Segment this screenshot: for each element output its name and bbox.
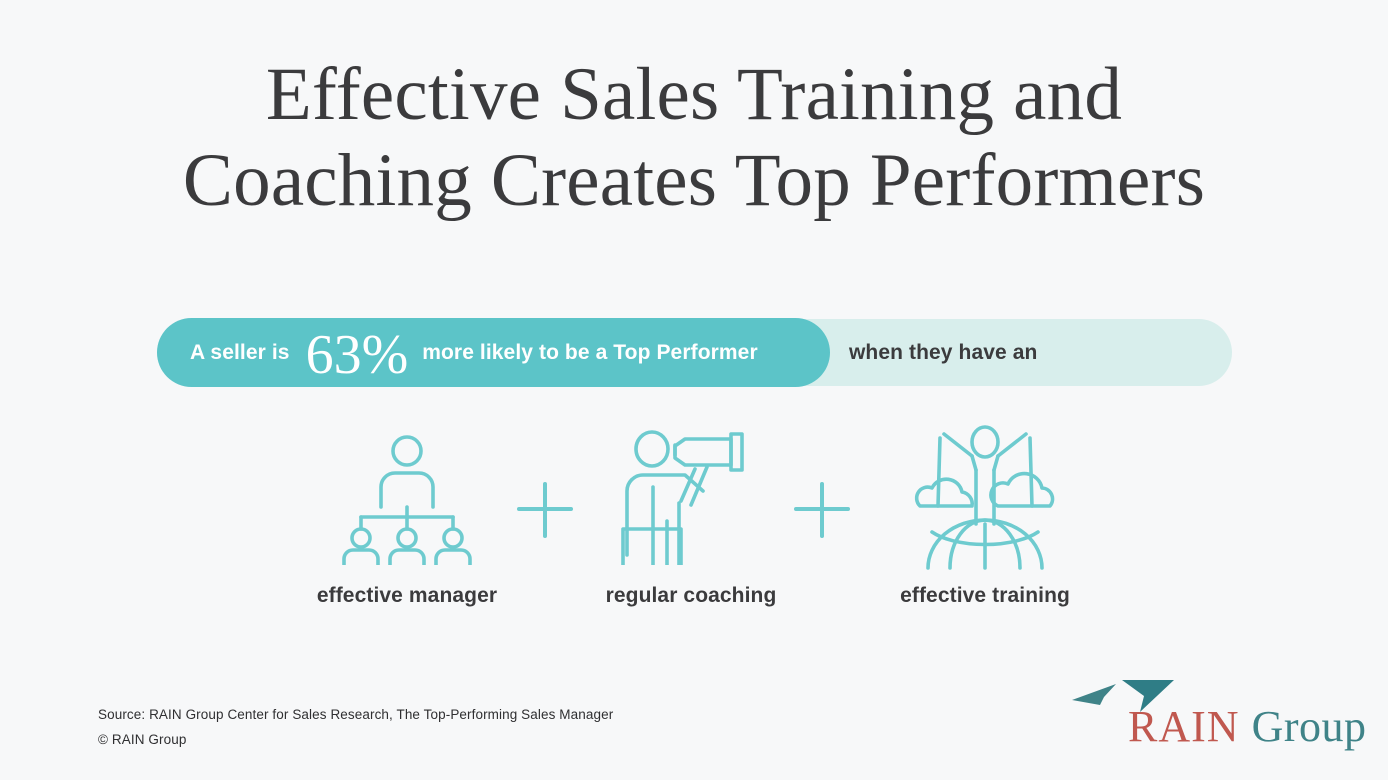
source-text: Source: RAIN Group Center for Sales Rese… <box>98 702 613 727</box>
logo-name-primary: RAIN <box>1128 702 1240 751</box>
page-title: Effective Sales Training and Coaching Cr… <box>0 52 1388 224</box>
logo-name-secondary: Group <box>1252 702 1367 751</box>
factor-regular-coaching: regular coaching <box>591 420 791 608</box>
person-on-globe-icon <box>885 420 1085 570</box>
factor-effective-training: effective training <box>885 420 1085 608</box>
factors-row: effective manager <box>0 420 1388 610</box>
footer: Source: RAIN Group Center for Sales Rese… <box>98 702 613 752</box>
factor-label: effective manager <box>307 584 507 608</box>
plus-icon <box>794 482 850 538</box>
factor-label: regular coaching <box>591 584 791 608</box>
stat-banner-teal-fill: A seller is 63% more likely to be a Top … <box>157 318 830 387</box>
stat-middle-text: more likely to be a Top Performer <box>422 341 758 365</box>
copyright-text: © RAIN Group <box>98 727 613 752</box>
stat-prefix-text: A seller is <box>190 341 290 365</box>
factor-label: effective training <box>885 584 1085 608</box>
stat-value: 63% <box>306 327 409 383</box>
page-title-line-1: Effective Sales Training and <box>0 52 1388 138</box>
stat-suffix-text: when they have an <box>849 318 1037 387</box>
logo-wordmark: RAINGroup <box>1128 704 1367 750</box>
rain-group-logo: RAINGroup <box>1070 678 1355 753</box>
plus-icon <box>517 482 573 538</box>
factor-effective-manager: effective manager <box>307 420 507 608</box>
person-with-megaphone-icon <box>591 420 791 570</box>
page-title-line-2: Coaching Creates Top Performers <box>0 138 1388 224</box>
org-chart-people-icon <box>307 420 507 570</box>
stat-banner: when they have an A seller is 63% more l… <box>157 318 1232 387</box>
